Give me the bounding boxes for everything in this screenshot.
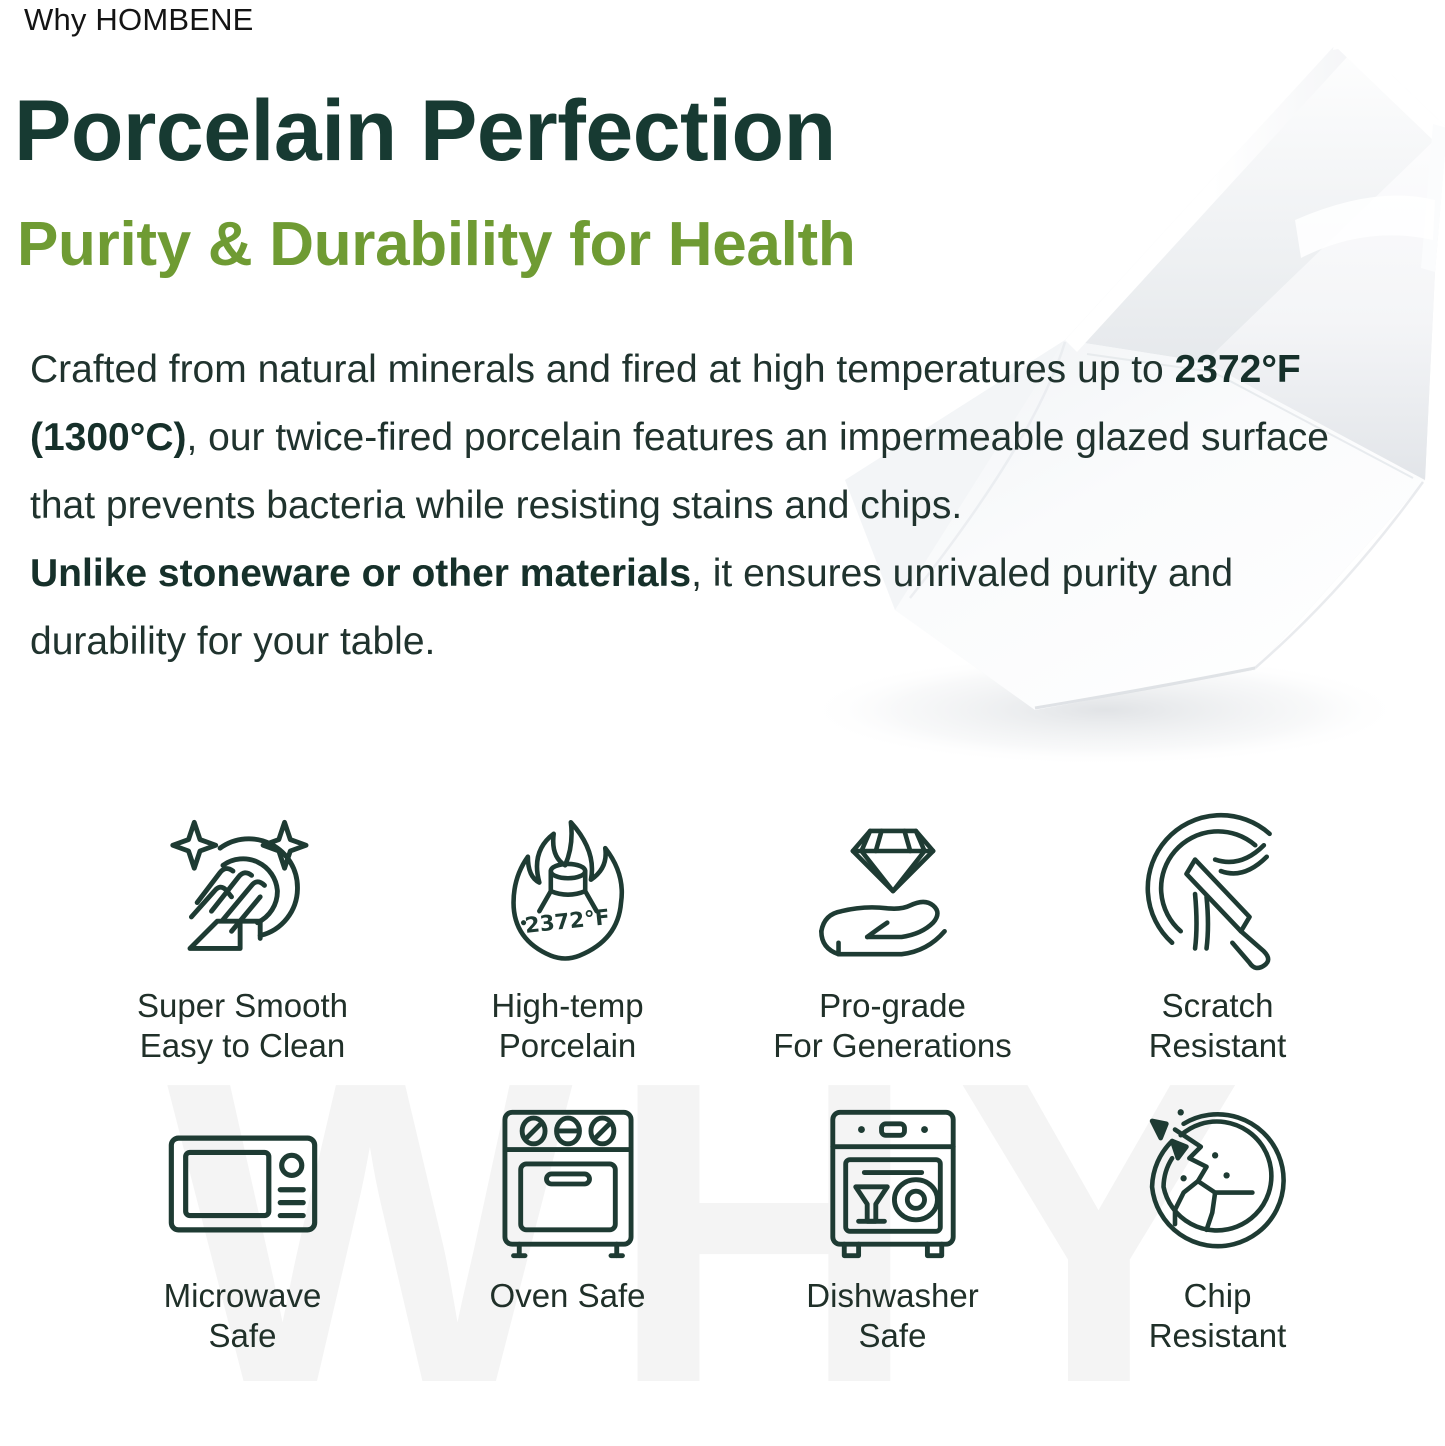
dishwasher-icon (807, 1098, 979, 1270)
flame-temp-text: 2372°F (523, 905, 610, 939)
feature-label: Microwave Safe (164, 1276, 322, 1356)
hand-wiping-sparkle-icon (157, 808, 329, 980)
feature-item-super-smooth: Super Smooth Easy to Clean (80, 808, 405, 1066)
para1-tail: , our twice-fired porcelain features an … (30, 416, 1329, 527)
feature-label: Chip Resistant (1149, 1276, 1287, 1356)
feature-label: High-temp Porcelain (491, 986, 643, 1066)
body-paragraph-1: Crafted from natural minerals and fired … (30, 336, 1380, 540)
feature-item-pro-grade: Pro-grade For Generations (730, 808, 1055, 1066)
feature-label: Pro-grade For Generations (773, 986, 1011, 1066)
feature-label: Super Smooth Easy to Clean (137, 986, 348, 1066)
infographic-page: WHY (0, 0, 1445, 1446)
page-headline: Porcelain Perfection (14, 86, 836, 176)
comparison-highlight: Unlike stoneware or other materials (30, 552, 691, 595)
feature-item-scratch-resistant: Scratch Resistant (1055, 808, 1380, 1066)
brand-eyebrow: Why HOMBENE (24, 2, 254, 38)
feature-item-microwave-safe: Microwave Safe (80, 1098, 405, 1356)
body-copy: Crafted from natural minerals and fired … (30, 336, 1380, 676)
microwave-icon (157, 1098, 329, 1270)
feature-label: Oven Safe (490, 1276, 646, 1316)
para1-lead: Crafted from natural minerals and fired … (30, 348, 1175, 391)
feature-item-chip-resistant: Chip Resistant (1055, 1098, 1380, 1356)
flame-kiln-temperature-icon: 2372°F (482, 808, 654, 980)
feature-item-high-temp: 2372°F High-temp Porcelain (405, 808, 730, 1066)
feature-label: Dishwasher Safe (806, 1276, 978, 1356)
feature-grid: Super Smooth Easy to Clean 2372°F High-t… (80, 808, 1380, 1356)
diamond-in-hand-icon (807, 808, 979, 980)
chipped-plate-icon (1132, 1098, 1304, 1270)
body-paragraph-2: Unlike stoneware or other materials, it … (30, 540, 1380, 676)
page-subheadline: Purity & Durability for Health (17, 212, 855, 277)
feature-item-dishwasher-safe: Dishwasher Safe (730, 1098, 1055, 1356)
oven-range-icon (482, 1098, 654, 1270)
feature-item-oven-safe: Oven Safe (405, 1098, 730, 1356)
feature-label: Scratch Resistant (1149, 986, 1287, 1066)
knife-scratching-plate-icon (1132, 808, 1304, 980)
